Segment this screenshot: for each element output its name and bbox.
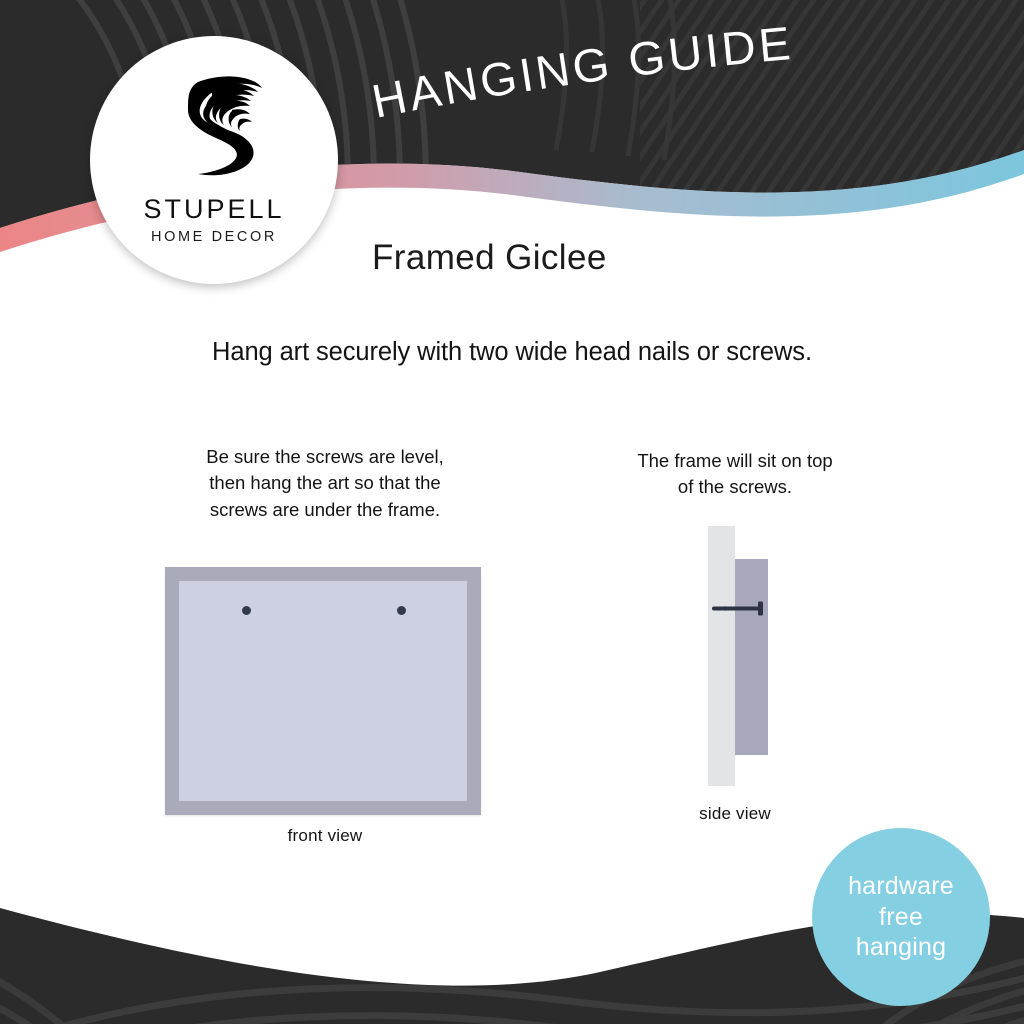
picture-frame-front [165, 567, 481, 815]
side-caption-line-1: The frame will sit on top [560, 448, 910, 474]
front-view-panel: Be sure the screws are level, then hang … [120, 444, 530, 846]
promo-line-2: free [879, 902, 923, 933]
side-view-figure [560, 521, 910, 786]
frame-mat-area [179, 581, 467, 801]
brand-tagline: HOME DECOR [151, 230, 277, 245]
nail-icon [712, 599, 774, 617]
stupell-swirl-logo-icon [154, 66, 274, 186]
lead-instruction: Hang art securely with two wide head nai… [0, 338, 1024, 367]
front-view-caption: Be sure the screws are level, then hang … [120, 444, 530, 523]
side-view-panel: The frame will sit on top of the screws.… [560, 448, 910, 824]
picture-frame-side [735, 559, 768, 755]
side-view-caption: The frame will sit on top of the screws. [560, 448, 910, 501]
front-view-figure [120, 543, 530, 808]
promo-line-1: hardware [848, 871, 954, 902]
brand-name: STUPELL [143, 196, 284, 223]
hardware-free-hanging-badge: hardware free hanging [812, 828, 990, 1006]
side-view-label: side view [560, 804, 910, 824]
page-title: HANGING GUIDE [372, 44, 892, 134]
product-type-label: Framed Giclee [372, 238, 607, 278]
front-view-label: front view [120, 826, 530, 846]
hanging-guide-page: STUPELL HOME DECOR HANGING GUIDE Framed … [0, 0, 1024, 1024]
front-caption-line-2: then hang the art so that the [120, 470, 530, 496]
side-caption-line-2: of the screws. [560, 474, 910, 500]
promo-line-3: hanging [856, 932, 946, 963]
front-caption-line-1: Be sure the screws are level, [120, 444, 530, 470]
wall-cross-section [708, 526, 735, 786]
brand-logo-badge: STUPELL HOME DECOR [90, 36, 338, 284]
front-caption-line-3: screws are under the frame. [120, 497, 530, 523]
